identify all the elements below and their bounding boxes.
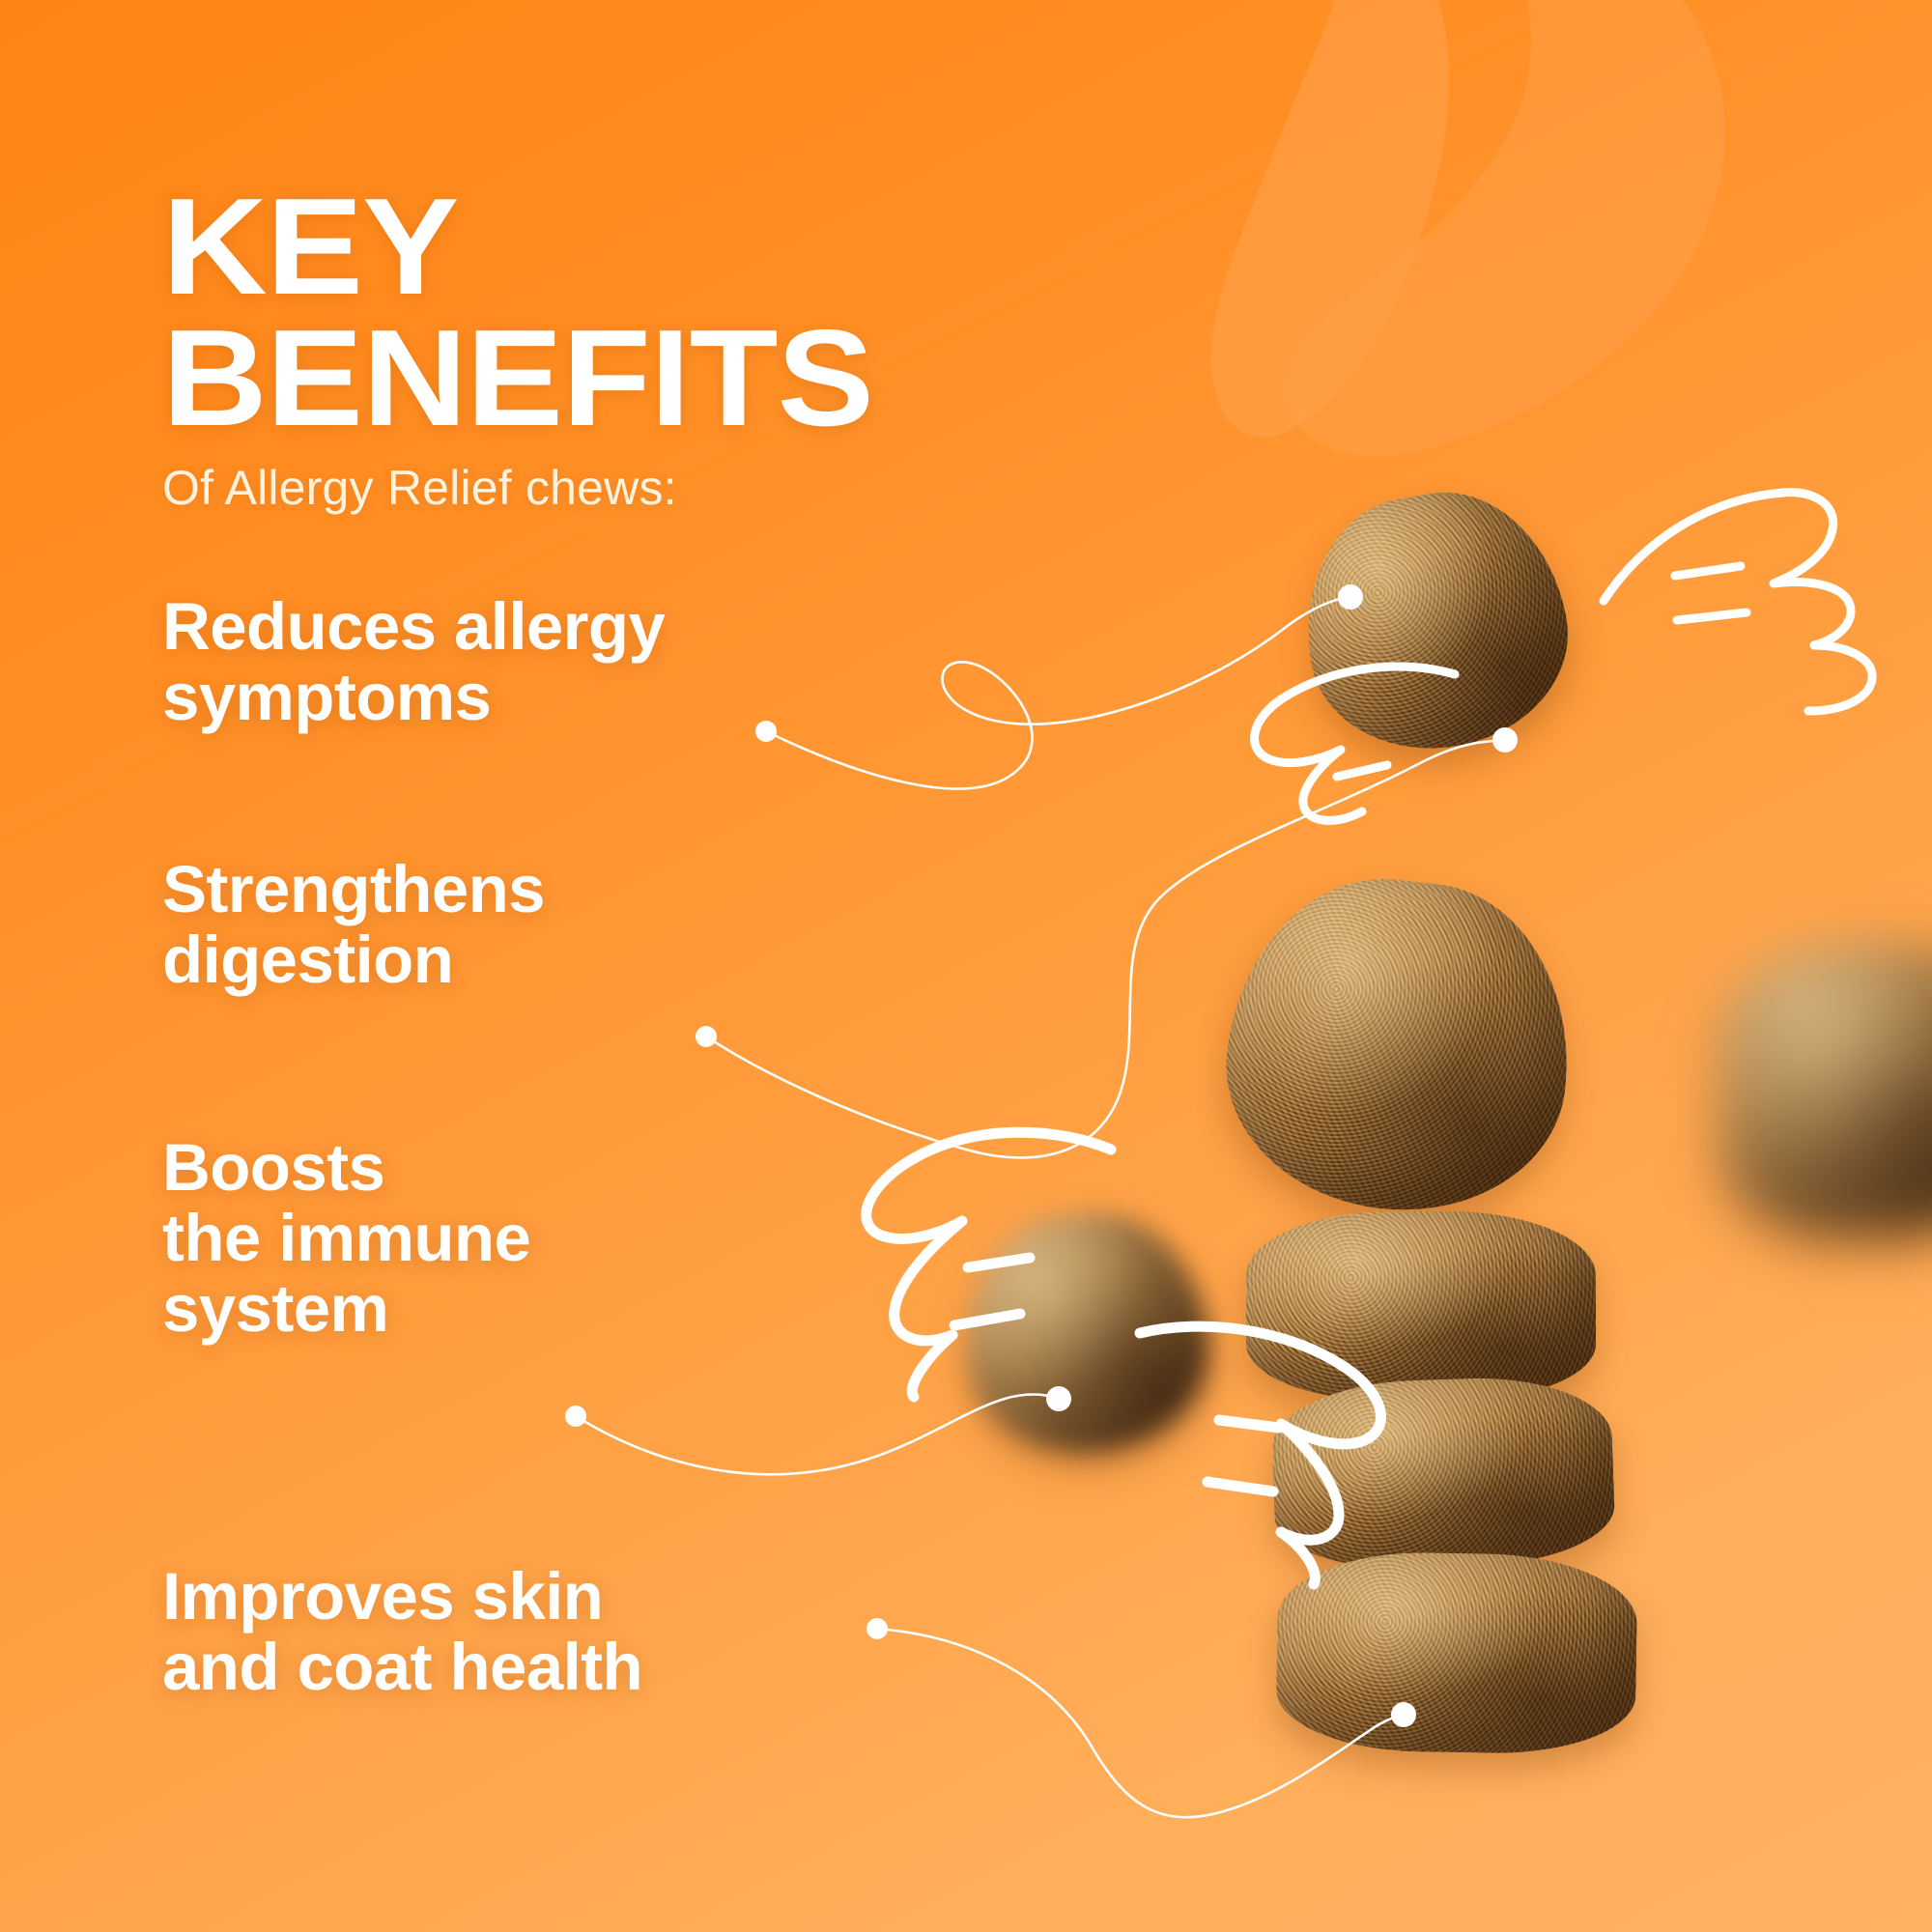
- treat-stack-4: [1270, 1374, 1617, 1573]
- paw-blob-icon: [1169, 0, 1932, 502]
- treat-flying-left: [954, 1204, 1219, 1465]
- page-title: KEY BENEFITS: [162, 0, 1084, 445]
- treat-blurred-right: [1721, 945, 1932, 1235]
- benefit-item-1: Reduces allergy symptoms: [162, 591, 665, 732]
- treat-flying-top: [1286, 474, 1584, 769]
- benefit-item-2: Strengthens digestion: [162, 854, 545, 995]
- benefit-item-4: Improves skin and coat health: [162, 1561, 642, 1702]
- treat-stack-3: [1246, 1211, 1596, 1401]
- header-block: KEY BENEFITS Of Allergy Relief chews:: [162, 0, 1032, 515]
- page-subtitle: Of Allergy Relief chews:: [162, 461, 1032, 515]
- treat-stack-top: [1212, 865, 1585, 1227]
- benefit-item-3: Boosts the immune system: [162, 1132, 530, 1344]
- wing-icon-top-right: [1594, 483, 1913, 715]
- key-benefits-poster: KEY BENEFITS Of Allergy Relief chews: Re…: [0, 0, 1932, 1932]
- treat-stack-5: [1275, 1550, 1638, 1755]
